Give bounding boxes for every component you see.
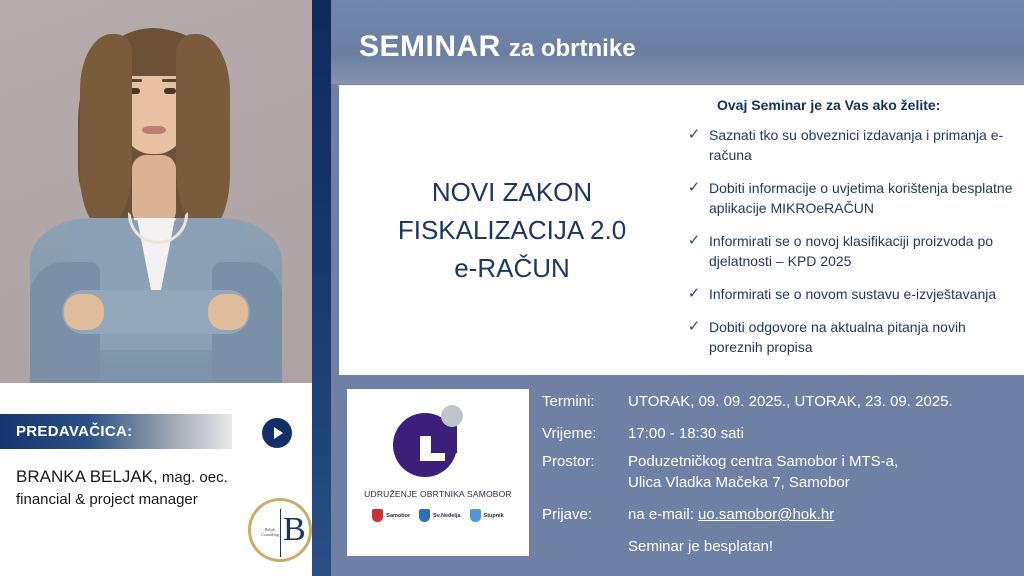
presenter-name-line: BRANKA BELJAK, mag. oec. bbox=[16, 466, 266, 489]
detail-label: Prostor: bbox=[542, 451, 628, 472]
logo-square-shape bbox=[431, 423, 457, 453]
shield-icon bbox=[419, 509, 430, 522]
detail-value: UTORAK, 09. 09. 2025., UTORAK, 23. 09. 2… bbox=[628, 391, 1012, 412]
play-triangle bbox=[274, 427, 283, 439]
checklist-item-text: Dobiti odgovore na aktualna pitanja novi… bbox=[709, 317, 1019, 357]
checklist-item: ✓ Informirati se o novom sustavu e-izvje… bbox=[679, 284, 1019, 304]
detail-value: na e-mail: uo.samobor@hok.hr bbox=[628, 504, 1012, 525]
presenter-photo bbox=[0, 0, 312, 383]
detail-value: Poduzetničkog centra Samobor i MTS-a, Ul… bbox=[628, 451, 1012, 493]
title-sub: za obrtnike bbox=[509, 35, 636, 62]
header-band: SEMINARza obrtnike bbox=[331, 0, 1024, 84]
presenter-details: BRANKA BELJAK, mag. oec. financial & pro… bbox=[16, 466, 266, 511]
logo-dot-shape bbox=[441, 405, 463, 427]
page-title: SEMINARza obrtnike bbox=[359, 30, 636, 64]
benefits-checklist: Ovaj Seminar je za Vas ako želite: ✓ Saz… bbox=[679, 97, 1019, 370]
shield-icon bbox=[470, 509, 481, 522]
monogram-letter: B bbox=[283, 513, 306, 547]
content-panel: NOVI ZAKON FISKALIZACIJA 2.0 e-RAČUN Ova… bbox=[339, 85, 1024, 375]
venue-line-1: Poduzetničkog centra Samobor i MTS-a, bbox=[628, 453, 898, 470]
check-icon: ✓ bbox=[679, 125, 709, 145]
photo-hand-right bbox=[208, 294, 248, 330]
crest-label: Sv.Nedelja bbox=[433, 513, 460, 519]
photo-eye-right bbox=[164, 88, 176, 94]
crest-label: Stupnik bbox=[484, 513, 504, 519]
photo-mouth bbox=[142, 126, 166, 134]
headline-line-1: NOVI ZAKON bbox=[357, 173, 667, 211]
check-icon: ✓ bbox=[679, 178, 709, 198]
checklist-item: ✓ Dobiti odgovore na aktualna pitanja no… bbox=[679, 317, 1019, 357]
detail-label: Vrijeme: bbox=[542, 423, 628, 444]
organization-logo-card: UDRUŽENJE OBRTNIKA SAMOBOR Samobor Sv.Ne… bbox=[347, 389, 529, 556]
play-icon[interactable] bbox=[262, 418, 292, 448]
crest-row: Samobor Sv.Nedelja Stupnik bbox=[347, 509, 529, 522]
check-icon: ✓ bbox=[679, 231, 709, 251]
registration-email-link[interactable]: uo.samobor@hok.hr bbox=[698, 506, 834, 523]
checklist-item-text: Saznati tko su obveznici izdavanja i pri… bbox=[709, 125, 1019, 165]
checklist-item-text: Informirati se o novom sustavu e-izvješt… bbox=[709, 284, 1019, 304]
crest-samobor: Samobor bbox=[372, 509, 410, 522]
left-column: PREDAVAČICA: BRANKA BELJAK, mag. oec. fi… bbox=[0, 0, 312, 576]
seminar-headline: NOVI ZAKON FISKALIZACIJA 2.0 e-RAČUN bbox=[357, 173, 667, 287]
checklist-item: ✓ Saznati tko su obveznici izdavanja i p… bbox=[679, 125, 1019, 165]
detail-value: 17:00 - 18:30 sati bbox=[628, 423, 1012, 444]
seminar-poster: PREDAVAČICA: BRANKA BELJAK, mag. oec. fi… bbox=[0, 0, 1024, 576]
detail-row-prostor: Prostor: Poduzetničkog centra Samobor i … bbox=[542, 451, 1012, 493]
detail-row-vrijeme: Vrijeme: 17:00 - 18:30 sati bbox=[542, 423, 1012, 444]
monogram-subtext: Beljak Consulting bbox=[259, 527, 281, 537]
title-main: SEMINAR bbox=[359, 30, 501, 63]
checklist-item: ✓ Dobiti informacije o uvjetima korišten… bbox=[679, 178, 1019, 218]
presenter-banner: PREDAVAČICA: bbox=[0, 414, 232, 449]
headline-line-2: FISKALIZACIJA 2.0 bbox=[357, 211, 667, 249]
vertical-divider bbox=[312, 0, 331, 576]
checklist-title: Ovaj Seminar je za Vas ako želite: bbox=[717, 97, 1019, 113]
event-details: Termini: UTORAK, 09. 09. 2025., UTORAK, … bbox=[542, 391, 1012, 568]
organization-logo-icon bbox=[393, 405, 465, 477]
presenter-banner-label: PREDAVAČICA: bbox=[0, 423, 132, 440]
detail-label: Prijave: bbox=[542, 504, 628, 525]
crest-label: Samobor bbox=[386, 513, 410, 519]
presenter-role: financial & project manager bbox=[16, 489, 266, 511]
crest-stupnik: Stupnik bbox=[470, 509, 504, 522]
headline-line-3: e-RAČUN bbox=[357, 249, 667, 287]
organization-name: UDRUŽENJE OBRTNIKA SAMOBOR bbox=[347, 489, 529, 499]
photo-hair-left bbox=[80, 34, 132, 229]
monogram-logo: Beljak Consulting B bbox=[248, 498, 312, 562]
registration-prefix: na e-mail: bbox=[628, 506, 698, 523]
details-band: UDRUŽENJE OBRTNIKA SAMOBOR Samobor Sv.Ne… bbox=[339, 377, 1024, 576]
check-icon: ✓ bbox=[679, 284, 709, 304]
check-icon: ✓ bbox=[679, 317, 709, 337]
checklist-item: ✓ Informirati se o novoj klasifikaciji p… bbox=[679, 231, 1019, 271]
detail-row-termini: Termini: UTORAK, 09. 09. 2025., UTORAK, … bbox=[542, 391, 1012, 412]
crest-sv-nedelja: Sv.Nedelja bbox=[419, 509, 460, 522]
detail-label: Termini: bbox=[542, 391, 628, 412]
free-note: Seminar je besplatan! bbox=[628, 536, 1012, 557]
detail-row-free-note: Seminar je besplatan! bbox=[542, 536, 1012, 557]
right-column: SEMINARza obrtnike NOVI ZAKON FISKALIZAC… bbox=[331, 0, 1024, 576]
venue-line-2: Ulica Vladka Mačeka 7, Samobor bbox=[628, 472, 1012, 493]
photo-hair-right bbox=[176, 34, 230, 232]
checklist-item-text: Dobiti informacije o uvjetima korištenja… bbox=[709, 178, 1019, 218]
detail-row-prijave: Prijave: na e-mail: uo.samobor@hok.hr bbox=[542, 504, 1012, 525]
photo-hand-left bbox=[64, 294, 104, 330]
presenter-name-text: BRANKA BELJAK, bbox=[16, 467, 158, 486]
shield-icon bbox=[372, 509, 383, 522]
checklist-item-text: Informirati se o novoj klasifikaciji pro… bbox=[709, 231, 1019, 271]
presenter-credential: mag. oec. bbox=[158, 469, 228, 486]
